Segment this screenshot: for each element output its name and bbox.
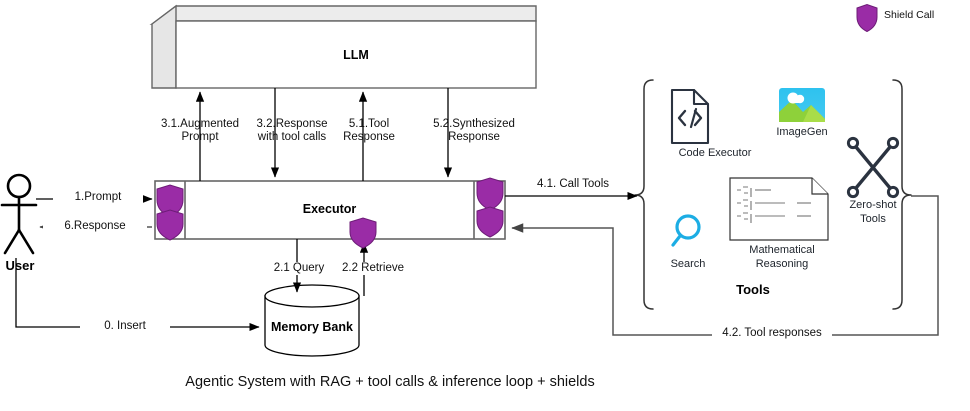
tool-label-mathematical-reasoning: Mathematical Reasoning [736, 243, 828, 271]
tools-group-label: Tools [713, 282, 793, 297]
tool-label-zero-shot-tools: Zero-shot Tools [838, 198, 908, 226]
edge-label-line2: Response [448, 131, 500, 143]
edge-label-retrieve: 2.2 Retrieve [333, 262, 413, 275]
diagram-caption: Agentic System with RAG + tool calls & i… [0, 374, 780, 390]
formula-document-icon [730, 178, 828, 240]
edge-label-tool-responses: 4.2. Tool responses [712, 327, 832, 340]
tool-label-search: Search [650, 258, 726, 271]
shield-icon [857, 5, 877, 32]
edge-label-response: 6.Response [43, 220, 147, 233]
edge-label-line2: Prompt [181, 131, 218, 143]
edge-label-insert: 0. Insert [80, 320, 170, 333]
legend-label: Shield Call [884, 9, 934, 21]
executor-label: Executor [185, 202, 474, 216]
image-picture-icon [779, 88, 825, 122]
memory-bank-label: Memory Bank [265, 320, 359, 334]
user-node[interactable] [2, 175, 36, 253]
edge-label-line1: 3.2.Response [257, 118, 328, 130]
edge-label-line2: with tool calls [258, 131, 326, 143]
edge-label-synthesized-response: 5.2.Synthesized Response [416, 118, 532, 144]
user-label: User [0, 258, 40, 273]
llm-label: LLM [176, 48, 536, 62]
llm-node[interactable] [152, 6, 536, 88]
edge-label-prompt: 1.Prompt [53, 191, 143, 204]
magnifier-icon [673, 216, 699, 245]
code-document-icon [672, 90, 708, 143]
edge-label-call-tools: 4.1. Call Tools [528, 178, 618, 191]
edge-label-line1: 3.1.Augmented [161, 118, 239, 130]
edge-label-query: 2.1 Query [264, 262, 334, 275]
diagram-canvas: LLM Executor Memory Bank User Tools 3.1.… [0, 0, 970, 411]
crossed-wrenches-icon [848, 138, 897, 196]
tool-label-imagegen: ImageGen [762, 126, 842, 139]
edge-label-tool-response: 5.1.Tool Response [323, 118, 415, 144]
edge-insert [16, 258, 259, 327]
edge-label-line1: 5.1.Tool [349, 118, 389, 130]
tool-label-code-executor: Code Executor [645, 147, 785, 160]
edge-label-line1: 5.2.Synthesized [433, 118, 515, 130]
edge-label-line2: Response [343, 131, 395, 143]
shield-icon [350, 218, 376, 248]
